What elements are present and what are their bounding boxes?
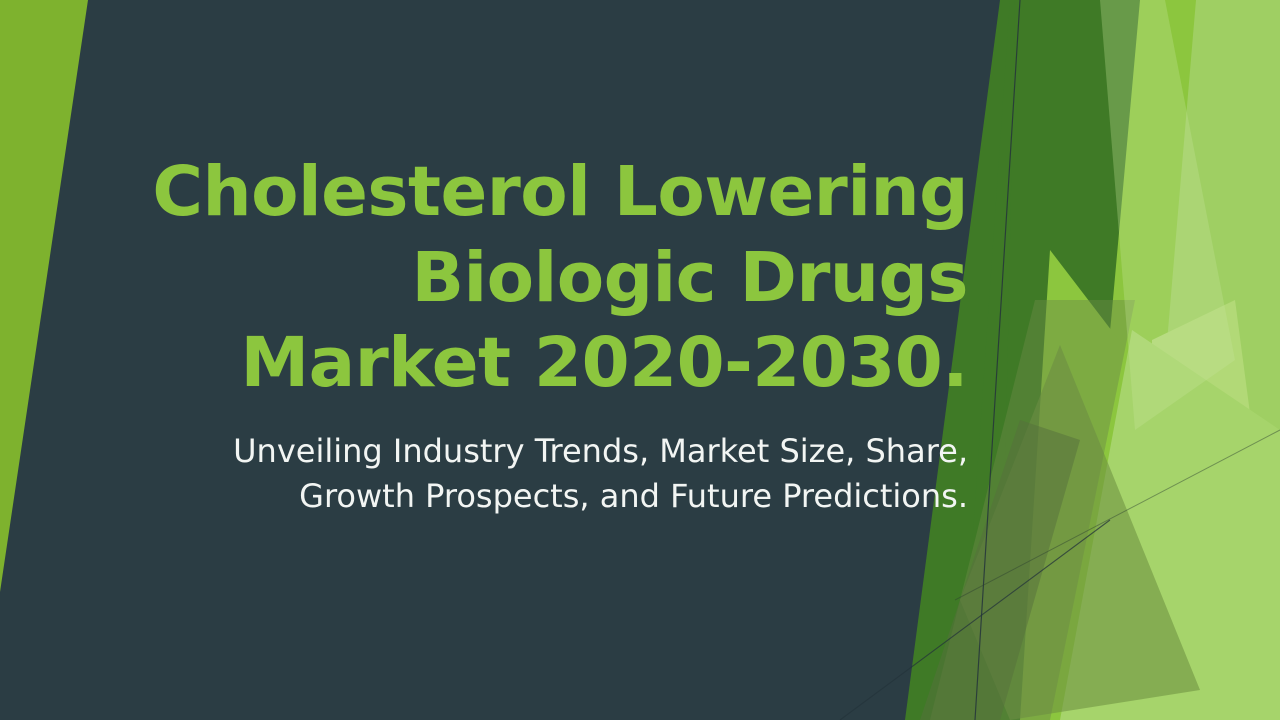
- slide-subtitle: Unveiling Industry Trends, Market Size, …: [150, 429, 968, 520]
- page-title: Cholesterol Lowering Biologic Drugs Mark…: [150, 150, 968, 407]
- slide-text-block: Cholesterol Lowering Biologic Drugs Mark…: [150, 150, 968, 520]
- presentation-slide: Cholesterol Lowering Biologic Drugs Mark…: [0, 0, 1280, 720]
